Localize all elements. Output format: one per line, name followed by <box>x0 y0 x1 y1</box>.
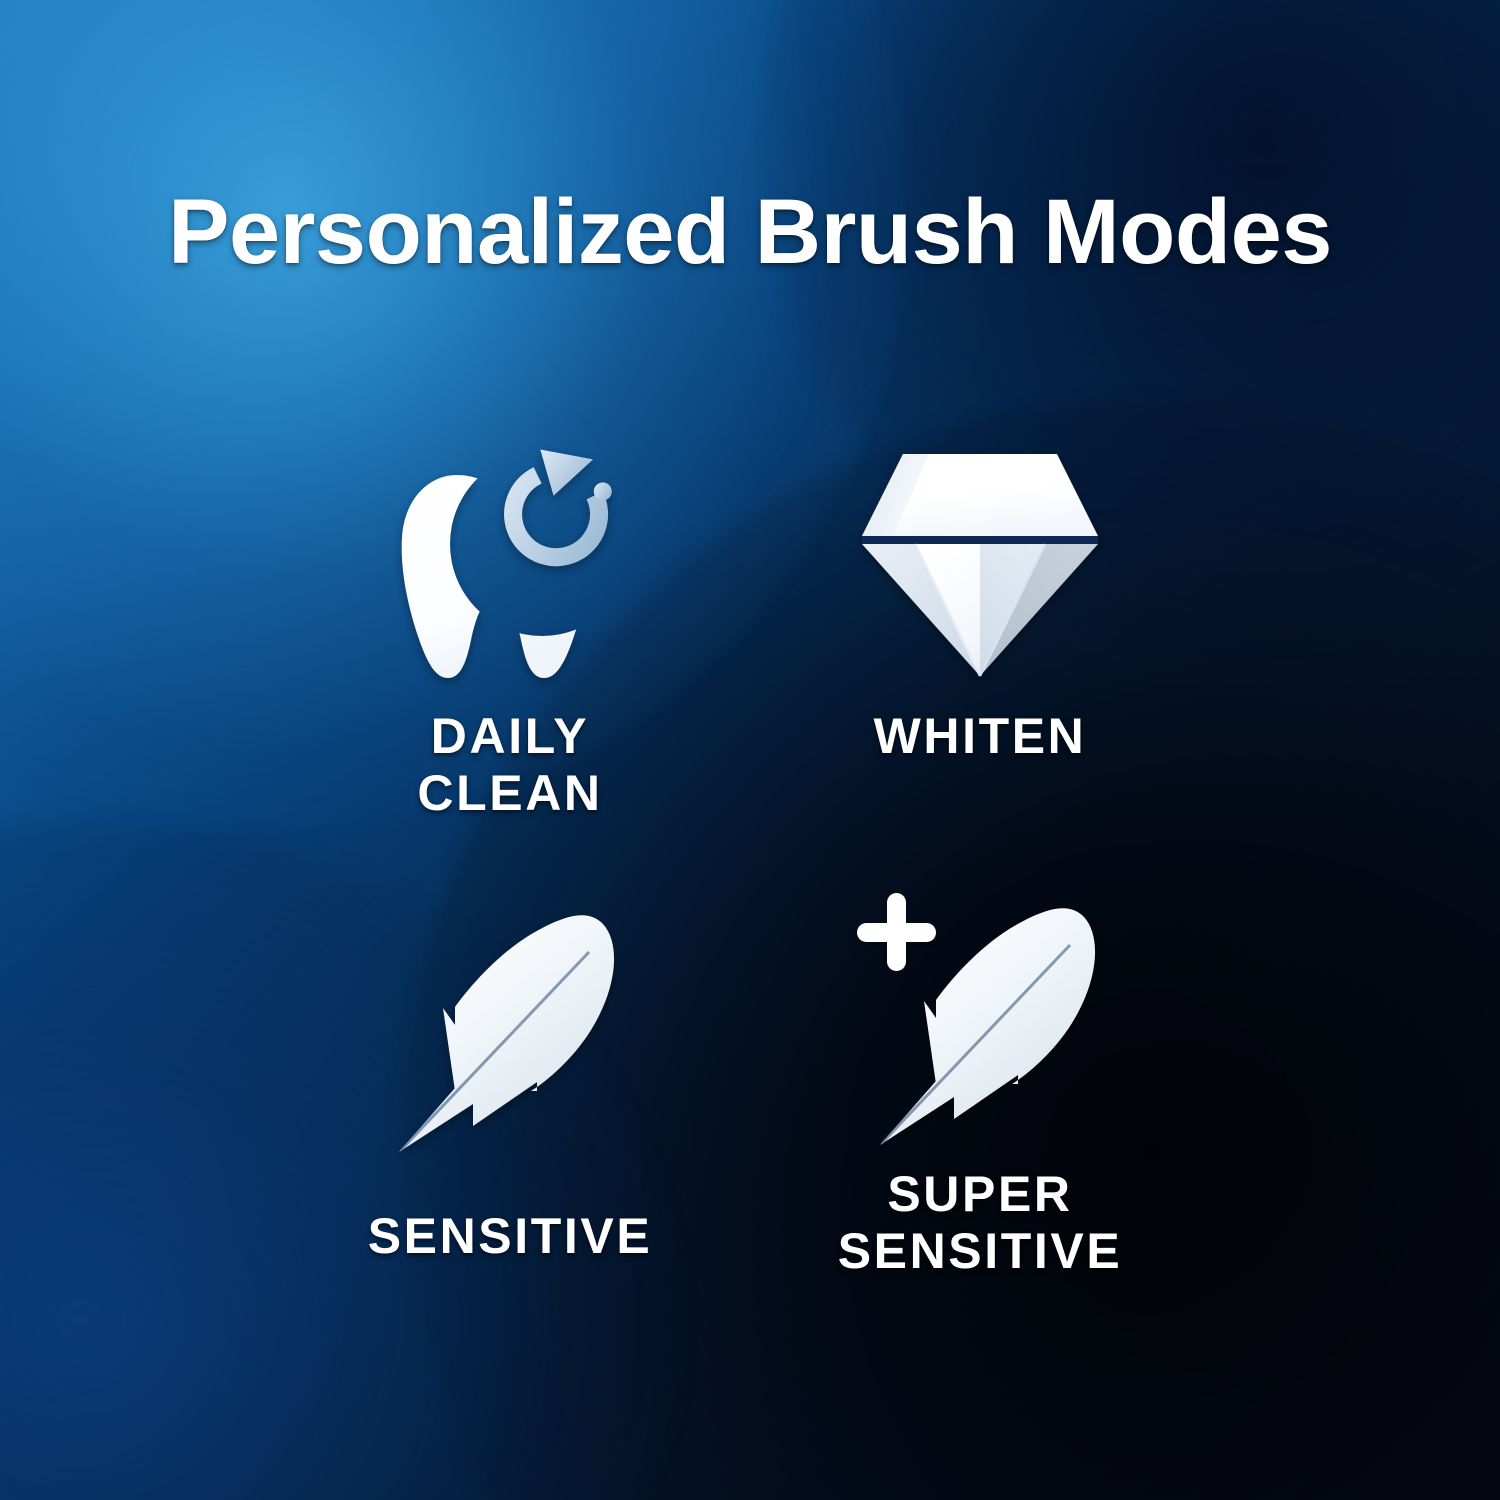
tooth-rotation-icon <box>290 440 730 690</box>
plus-icon <box>857 893 936 971</box>
mode-label-super-sensitive: SUPER SENSITIVE <box>760 1166 1200 1280</box>
mode-label-daily-clean: DAILY CLEAN <box>290 708 730 822</box>
feather-icon <box>290 908 730 1158</box>
diamond-icon <box>760 440 1200 690</box>
mode-label-whiten: WHITEN <box>760 708 1200 765</box>
mode-item-daily-clean: DAILY CLEAN <box>290 440 730 822</box>
mode-item-sensitive: SENSITIVE <box>290 908 730 1265</box>
mode-item-super-sensitive: SUPER SENSITIVE <box>760 888 1200 1280</box>
feather-plus-icon <box>760 888 1200 1138</box>
mode-item-whiten: WHITEN <box>760 440 1200 765</box>
tooth-icon <box>402 475 591 678</box>
mode-label-sensitive: SENSITIVE <box>290 1208 730 1265</box>
modes-grid: DAILY CLEAN <box>0 440 1500 1380</box>
brush-modes-graphic: Personalized Brush Modes <box>0 0 1500 1500</box>
page-title: Personalized Brush Modes <box>0 186 1500 278</box>
